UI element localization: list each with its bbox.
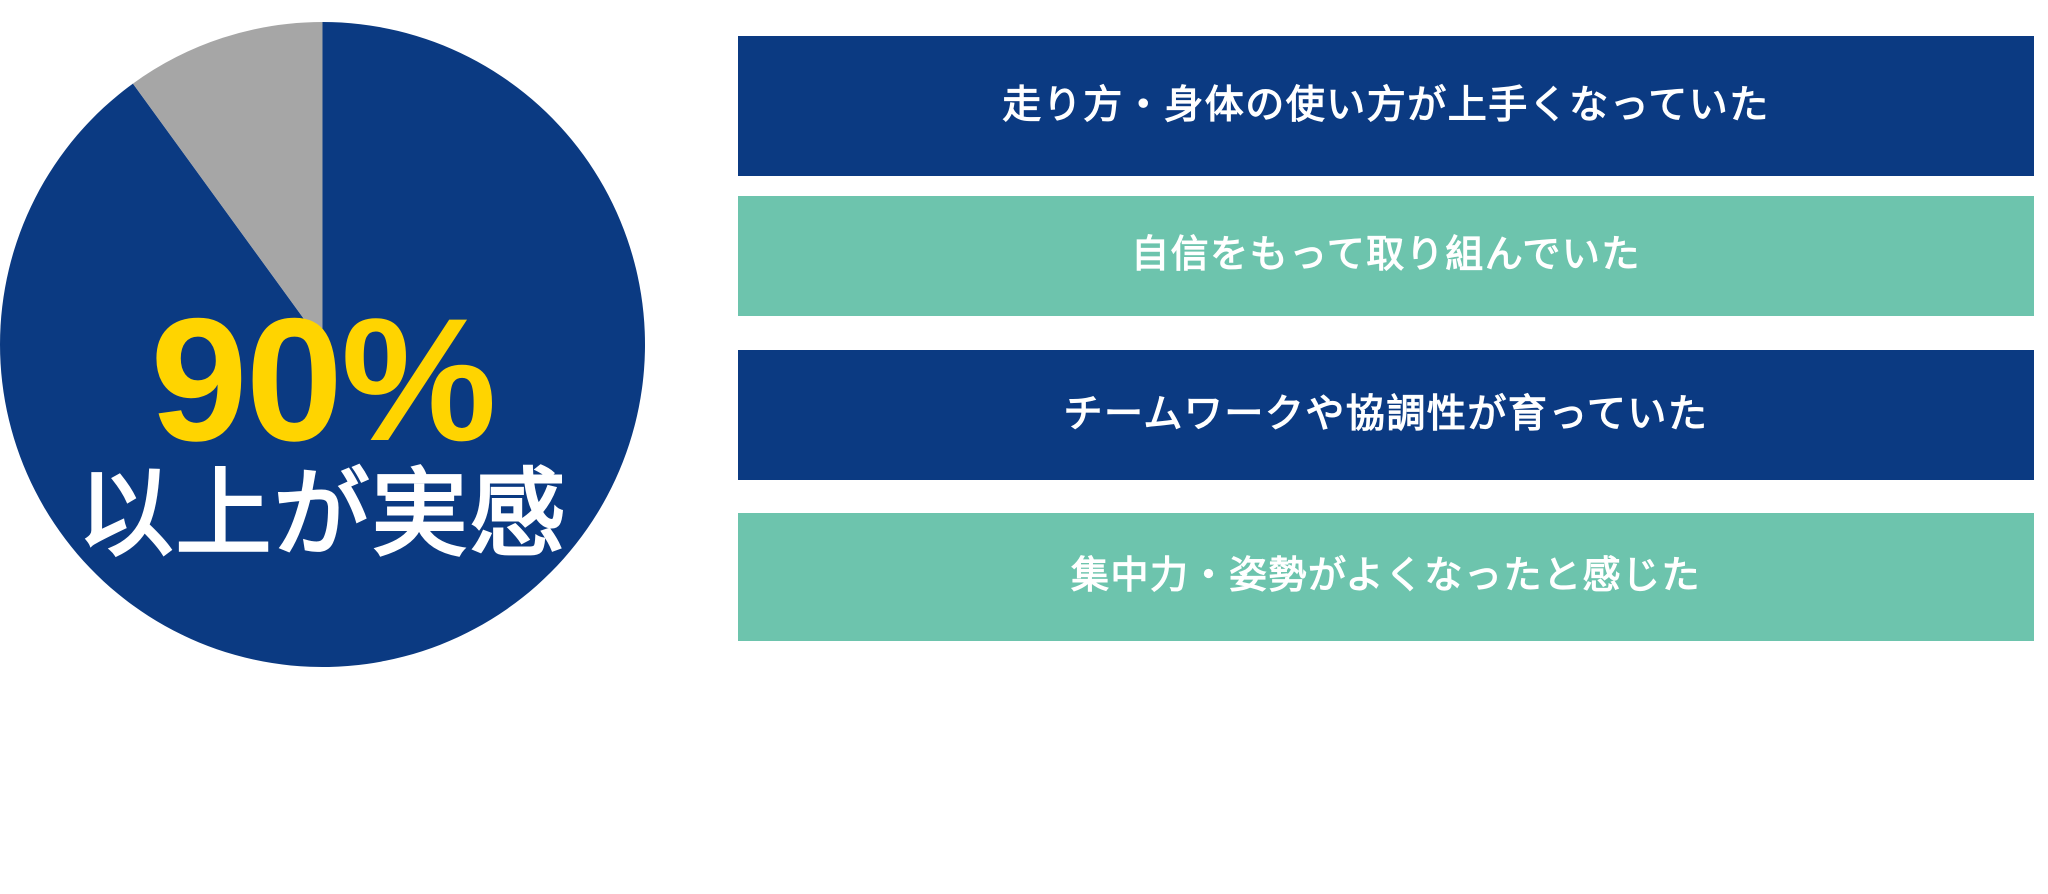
pie-chart (0, 22, 645, 667)
infographic-canvas: 90% 以上が実感 走り方・身体の使い方が上手くなっていた 自信をもって取り組ん… (0, 0, 2048, 894)
statement-bar-label: 集中力・姿勢がよくなったと感じた (1071, 554, 1701, 600)
statement-bar-list: 走り方・身体の使い方が上手くなっていた 自信をもって取り組んでいた チームワーク… (738, 0, 2034, 894)
statement-bar: 集中力・姿勢がよくなったと感じた (738, 513, 2034, 641)
statement-bar-label: 走り方・身体の使い方が上手くなっていた (1002, 83, 1770, 130)
pie-chart-panel: 90% 以上が実感 (0, 0, 700, 894)
statement-bar-label: 自信をもって取り組んでいた (1131, 233, 1641, 279)
statement-bar-label: チームワークや協調性が育っていた (1064, 392, 1709, 439)
statement-bar: チームワークや協調性が育っていた (738, 350, 2034, 480)
statement-bar: 走り方・身体の使い方が上手くなっていた (738, 36, 2034, 176)
statement-bar: 自信をもって取り組んでいた (738, 196, 2034, 316)
pie-slice-实感 (0, 22, 645, 667)
